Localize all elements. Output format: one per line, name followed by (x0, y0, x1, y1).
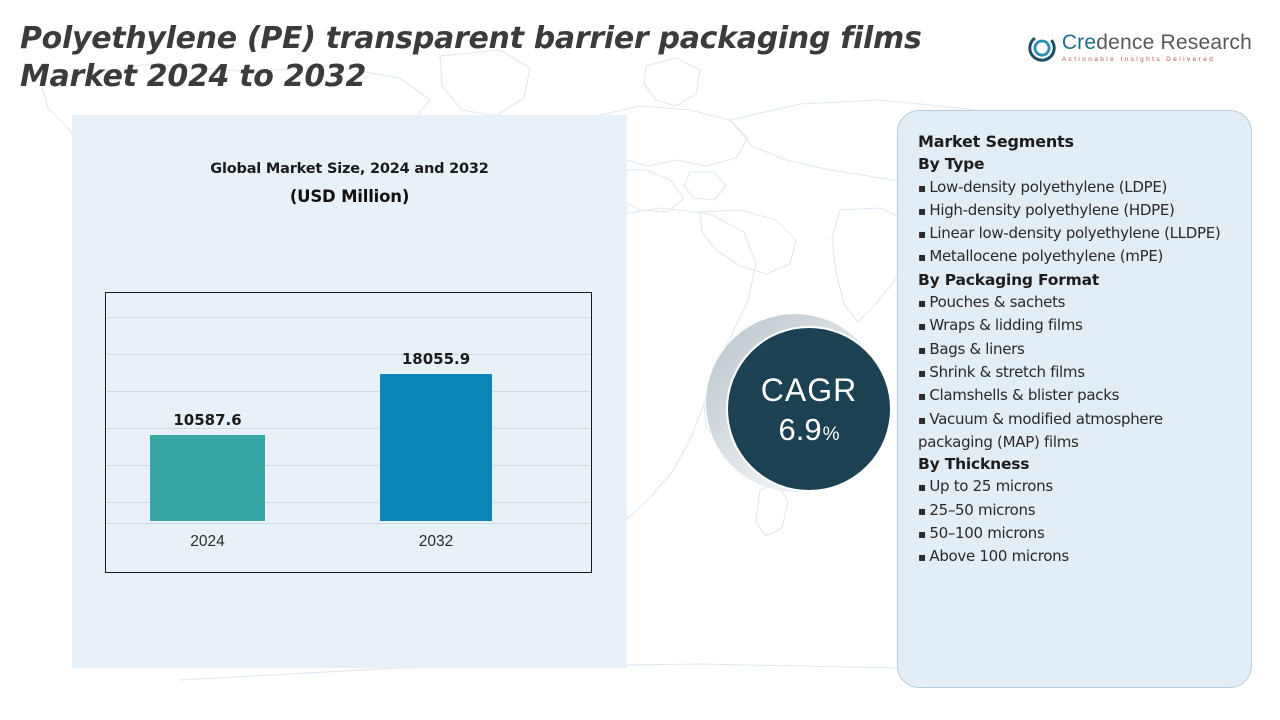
gridline (107, 317, 590, 318)
segment-item-label: Wraps & lidding films (929, 316, 1082, 334)
segment-item: ▪ Metallocene polyethylene (mPE) (918, 245, 1237, 268)
bullet-icon: ▪ (918, 480, 929, 494)
bullet-icon: ▪ (918, 389, 929, 403)
page-title-line-2: Market 2024 to 2032 (20, 58, 1110, 96)
bullet-icon: ▪ (918, 504, 929, 518)
bullet-icon: ▪ (918, 181, 929, 195)
segment-group-title: By Thickness (918, 453, 1237, 475)
segment-item-label: 50–100 microns (929, 524, 1044, 542)
segment-item: ▪ High-density polyethylene (HDPE) (918, 199, 1237, 222)
chart-heading-line-2: (USD Million) (72, 187, 627, 206)
segment-item-label: Clamshells & blister packs (929, 386, 1119, 404)
bullet-icon: ▪ (918, 366, 929, 380)
segment-item: ▪ Clamshells & blister packs (918, 384, 1237, 407)
bullet-icon: ▪ (918, 227, 929, 241)
segment-item: ▪ 25–50 microns (918, 499, 1237, 522)
gridline (107, 391, 590, 392)
bar-chart-plot-area: 10587.6 2024 18055.9 2032 (105, 292, 592, 573)
bar-2024: 10587.6 2024 (150, 435, 265, 521)
segment-group-title: By Type (918, 153, 1237, 175)
segment-item-label: High-density polyethylene (HDPE) (929, 201, 1174, 219)
gridline (107, 523, 590, 524)
segment-item: ▪ Low-density polyethylene (LDPE) (918, 176, 1237, 199)
bullet-icon: ▪ (918, 343, 929, 357)
segment-item: ▪ Up to 25 microns (918, 475, 1237, 498)
market-size-chart-panel: Global Market Size, 2024 and 2032 (USD M… (72, 115, 627, 668)
gridline (107, 354, 590, 355)
page-title-line-1: Polyethylene (PE) transparent barrier pa… (20, 20, 1110, 58)
bullet-icon: ▪ (918, 319, 929, 333)
segment-item: ▪ Above 100 microns (918, 545, 1237, 568)
bar-value-2032: 18055.9 (402, 350, 470, 368)
segment-item: ▪ Linear low-density polyethylene (LLDPE… (918, 222, 1237, 245)
segment-item-label: Metallocene polyethylene (mPE) (929, 247, 1163, 265)
bullet-icon: ▪ (918, 527, 929, 541)
cagr-label: CAGR (761, 374, 857, 406)
bar-category-2032: 2032 (419, 533, 453, 551)
segment-item: ▪ Pouches & sachets (918, 291, 1237, 314)
segment-item: ▪ 50–100 microns (918, 522, 1237, 545)
bullet-icon: ▪ (918, 413, 929, 427)
infographic-canvas: Credence Research Actionable Insights De… (0, 0, 1280, 720)
cagr-disc: CAGR 6.9 % (726, 326, 892, 492)
bar-fill-2032 (380, 374, 492, 521)
bullet-icon: ▪ (918, 550, 929, 564)
cagr-value: 6.9 (778, 414, 821, 445)
segment-item-label: Low-density polyethylene (LDPE) (929, 178, 1167, 196)
segment-item-label: Shrink & stretch films (929, 363, 1084, 381)
bullet-icon: ▪ (918, 296, 929, 310)
segment-item-label: Bags & liners (929, 340, 1024, 358)
bullet-icon: ▪ (918, 250, 929, 264)
segment-item-label: Vacuum & modified atmosphere packaging (… (918, 410, 1163, 451)
bar-2032: 18055.9 2032 (380, 374, 492, 521)
segment-item: ▪ Bags & liners (918, 338, 1237, 361)
segment-group-title: By Packaging Format (918, 269, 1237, 291)
bar-category-2024: 2024 (190, 533, 224, 551)
segment-item-label: Pouches & sachets (929, 293, 1065, 311)
page-title: Polyethylene (PE) transparent barrier pa… (20, 20, 1110, 96)
bar-value-2024: 10587.6 (173, 411, 241, 429)
segment-item-label: Linear low-density polyethylene (LLDPE) (929, 224, 1220, 242)
segments-body: By Type▪ Low-density polyethylene (LDPE)… (918, 153, 1237, 568)
market-segments-panel: Market Segments By Type▪ Low-density pol… (897, 110, 1252, 688)
cagr-badge: CAGR 6.9 % (706, 314, 898, 506)
segment-item-label: Above 100 microns (929, 547, 1069, 565)
logo-wordmark-rest: dence Research (1096, 31, 1252, 54)
bullet-icon: ▪ (918, 204, 929, 218)
chart-heading-line-1: Global Market Size, 2024 and 2032 (72, 161, 627, 177)
segments-title: Market Segments (918, 131, 1237, 153)
segment-item-label: 25–50 microns (929, 501, 1035, 519)
segment-item: ▪ Vacuum & modified atmosphere packaging… (918, 408, 1237, 454)
segment-item: ▪ Shrink & stretch films (918, 361, 1237, 384)
cagr-value-row: 6.9 % (778, 414, 839, 445)
bar-fill-2024 (150, 435, 265, 521)
chart-heading: Global Market Size, 2024 and 2032 (USD M… (72, 161, 627, 206)
segment-item-label: Up to 25 microns (929, 477, 1053, 495)
cagr-unit: % (823, 425, 840, 444)
segment-item: ▪ Wraps & lidding films (918, 314, 1237, 337)
